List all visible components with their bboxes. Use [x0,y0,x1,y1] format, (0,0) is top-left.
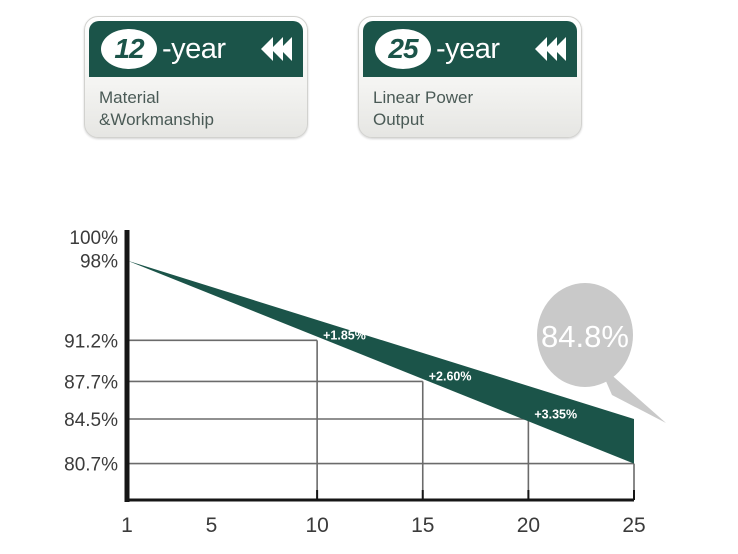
band-annotation: +3.35% [534,407,577,421]
y-axis-label: 98% [80,252,118,273]
x-axis-label: 20 [517,514,540,537]
badge-year-number: 25 [375,29,431,69]
band-annotation: +2.60% [429,370,472,384]
y-axis-label: 84.5% [64,410,118,431]
x-axis-label: 1 [121,514,133,537]
badge-header: 12 -year [89,21,303,77]
badge-header: 25 -year [363,21,577,77]
band-annotation: +1.85% [323,329,366,343]
badge-year-label: -year [436,33,500,66]
warranty-badge-25-year: 25 -year Linear Power Output [358,16,582,138]
y-axis-label: 100% [69,228,118,249]
y-axis-label: 91.2% [64,331,118,352]
badge-year-number: 12 [101,29,157,69]
y-axis-label: 80.7% [64,455,118,476]
power-degradation-chart: 84.8%+1.85%+2.60%+3.35%100%98%91.2%87.7%… [0,195,738,554]
y-axis-label: 87.7% [64,372,118,393]
badge-description-line-2: Output [373,109,581,131]
x-axis-label: 10 [305,514,328,537]
badge-description-line-1: Linear Power [373,87,581,109]
callout-value: 84.8% [541,319,629,354]
badge-year-label: -year [162,33,226,66]
badge-description: Material &Workmanship [85,77,307,132]
x-axis-label: 15 [411,514,434,537]
badge-description-line-1: Material [99,87,307,109]
badge-description-line-2: &Workmanship [99,109,307,131]
double-chevron-left-icon [259,36,293,62]
x-axis-label: 5 [206,514,218,537]
warranty-badge-12-year: 12 -year Material &Workmanship [84,16,308,138]
badge-description: Linear Power Output [359,77,581,132]
double-chevron-left-icon [533,36,567,62]
x-axis-label: 25 [622,514,645,537]
